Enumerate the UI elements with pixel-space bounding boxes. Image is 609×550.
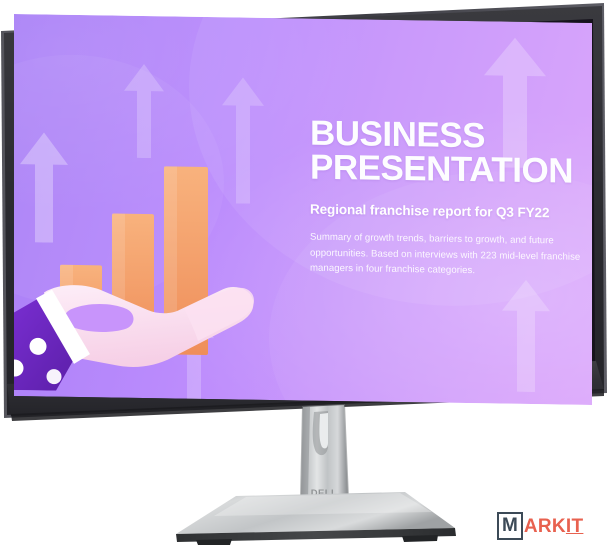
hand-holding-growth-bars-illustration	[14, 140, 290, 394]
slide-subtitle: Regional franchise report for Q3 FY22	[310, 202, 590, 221]
stand-foot-left	[196, 539, 232, 545]
up-arrow-icon	[502, 280, 550, 393]
slide-title: BUSINESS PRESENTATION	[310, 117, 590, 189]
slide-text-block: BUSINESS PRESENTATION Regional franchise…	[310, 117, 590, 281]
cable-slot-highlight	[319, 413, 328, 448]
slide-body-text: Summary of growth trends, barriers to gr…	[310, 230, 590, 281]
watermark-wordmark: ARKIT	[524, 517, 584, 536]
markit-watermark: M ARKIT	[497, 512, 583, 540]
presentation-slide[interactable]: BUSINESS PRESENTATION Regional franchise…	[14, 14, 592, 405]
watermark-ark: ARK	[524, 516, 566, 537]
stand-foot-right	[402, 535, 438, 542]
watermark-it: IT	[566, 516, 584, 537]
product-photo-scene: DELL	[0, 0, 609, 550]
watermark-boxed-letter: M	[497, 512, 523, 540]
